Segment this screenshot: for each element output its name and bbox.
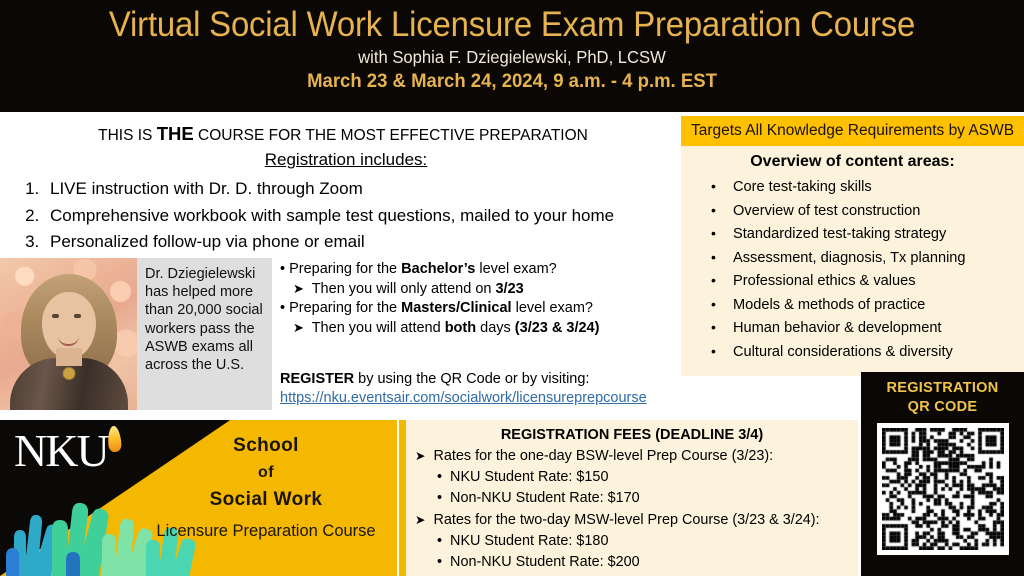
header-banner: Virtual Social Work Licensure Exam Prepa… bbox=[0, 0, 1024, 112]
list-item: Human behavior & development bbox=[711, 317, 1024, 341]
bachelor-question-bold: Bachelor’s bbox=[401, 261, 475, 277]
list-item: Comprehensive workbook with sample test … bbox=[44, 203, 676, 230]
bachelor-answer: ➤ Then you will only attend on 3/23 bbox=[280, 280, 680, 300]
register-instructions: REGISTER by using the QR Code or by visi… bbox=[280, 370, 647, 408]
qr-title-line2: QR CODE bbox=[861, 398, 1024, 417]
list-item: Cultural considerations & diversity bbox=[711, 341, 1024, 365]
register-label: REGISTER bbox=[280, 371, 354, 387]
qr-code-panel: REGISTRATION QR CODE bbox=[861, 372, 1024, 576]
list-item: Standardized test-taking strategy bbox=[711, 223, 1024, 247]
fee-group-heading: ➤ Rates for the one-day BSW-level Prep C… bbox=[406, 445, 858, 467]
event-dates: March 23 & March 24, 2024, 9 a.m. - 4 p.… bbox=[26, 68, 999, 94]
registration-includes-heading: Registration includes: bbox=[0, 146, 676, 172]
registration-fees-panel: REGISTRATION FEES (DEADLINE 3/4) ➤ Rates… bbox=[399, 420, 858, 576]
fee-group-heading-text: Rates for the one-day BSW-level Prep Cou… bbox=[433, 448, 773, 464]
fee-row: • NKU Student Rate: $150 bbox=[406, 467, 858, 488]
masters-answer-mid: days bbox=[476, 320, 515, 336]
registration-url-link[interactable]: https://nku.eventsair.com/socialwork/lic… bbox=[280, 390, 647, 406]
tagline: THIS IS THE COURSE FOR THE MOST EFFECTIV… bbox=[0, 112, 676, 146]
photo-necklace bbox=[62, 367, 75, 380]
qr-code-image[interactable] bbox=[877, 423, 1009, 555]
list-item: Overview of test construction bbox=[711, 200, 1024, 224]
arrow-bullet-icon: ➤ bbox=[415, 512, 425, 527]
bachelor-question: • Preparing for the Bachelor’s level exa… bbox=[280, 260, 680, 280]
list-item: Personalized follow-up via phone or emai… bbox=[44, 229, 676, 256]
arrow-bullet-icon: ➤ bbox=[293, 321, 304, 336]
fee-row: • Non-NKU Student Rate: $200 bbox=[406, 552, 858, 573]
fee-group-heading: ➤ Rates for the two-day MSW-level Prep C… bbox=[406, 509, 858, 531]
intro-section: THIS IS THE COURSE FOR THE MOST EFFECTIV… bbox=[0, 112, 676, 256]
nku-logo-block: NKU School of Social Work Licensure Prep… bbox=[0, 420, 397, 576]
masters-answer: ➤ Then you will attend both days (3/23 &… bbox=[280, 319, 680, 339]
photo-neck bbox=[56, 348, 82, 366]
registration-includes-list: LIVE instruction with Dr. D. through Zoo… bbox=[0, 176, 676, 256]
fee-row-text: NKU Student Rate: $180 bbox=[450, 533, 608, 549]
arrow-bullet-icon: ➤ bbox=[293, 282, 304, 297]
fee-row-text: NKU Student Rate: $150 bbox=[450, 469, 608, 485]
photo-eye-left bbox=[52, 314, 59, 318]
tagline-emphasis: THE bbox=[157, 123, 194, 144]
list-item: Professional ethics & values bbox=[711, 270, 1024, 294]
masters-answer-bold-dates: (3/23 & 3/24) bbox=[515, 320, 600, 336]
masters-question-bold: Masters/Clinical bbox=[401, 300, 511, 316]
presenter-name: with Sophia F. Dziegielewski, PhD, LCSW bbox=[26, 46, 999, 68]
fee-row-text: Non-NKU Student Rate: $200 bbox=[450, 554, 640, 570]
bio-caption: Dr. Dziegielewski has helped more than 2… bbox=[137, 258, 272, 410]
tagline-pre: THIS IS bbox=[98, 127, 157, 144]
masters-question-pre: Preparing for the bbox=[289, 300, 401, 316]
bachelor-question-post: level exam? bbox=[475, 261, 556, 277]
list-item: LIVE instruction with Dr. D. through Zoo… bbox=[44, 176, 676, 203]
arrow-bullet-icon: ➤ bbox=[415, 448, 425, 463]
photo-eye-right bbox=[74, 314, 81, 318]
aswb-banner: Targets All Knowledge Requirements by AS… bbox=[681, 116, 1024, 146]
fee-group-heading-text: Rates for the two-day MSW-level Prep Cou… bbox=[433, 512, 819, 528]
exam-level-guidance: • Preparing for the Bachelor’s level exa… bbox=[280, 260, 680, 338]
aswb-topic-list: Core test-taking skills Overview of test… bbox=[681, 176, 1024, 364]
aswb-content-panel: Targets All Knowledge Requirements by AS… bbox=[681, 116, 1024, 376]
school-line-3: Social Work bbox=[143, 486, 389, 513]
list-item: Assessment, diagnosis, Tx planning bbox=[711, 247, 1024, 271]
qr-title-line1: REGISTRATION bbox=[861, 379, 1024, 398]
school-name-text: School of Social Work Licensure Preparat… bbox=[143, 432, 389, 543]
register-text-line: REGISTER by using the QR Code or by visi… bbox=[280, 370, 647, 389]
list-item: Core test-taking skills bbox=[711, 176, 1024, 200]
bachelor-answer-bold: 3/23 bbox=[495, 281, 523, 297]
school-line-1: School bbox=[143, 432, 389, 459]
page-title: Virtual Social Work Licensure Exam Prepa… bbox=[31, 0, 994, 46]
bachelor-question-pre: Preparing for the bbox=[289, 261, 401, 277]
school-line-2: of bbox=[143, 459, 389, 486]
fees-title: REGISTRATION FEES (DEADLINE 3/4) bbox=[406, 420, 858, 445]
flame-icon bbox=[107, 426, 122, 453]
presenter-photo bbox=[0, 258, 137, 410]
masters-question-post: level exam? bbox=[512, 300, 593, 316]
bio-block: Dr. Dziegielewski has helped more than 2… bbox=[0, 258, 272, 410]
qr-panel-title: REGISTRATION QR CODE bbox=[861, 372, 1024, 417]
qr-canvas[interactable] bbox=[882, 428, 1004, 550]
registration-includes-label: Registration includes: bbox=[265, 150, 428, 169]
list-item: Models & methods of practice bbox=[711, 294, 1024, 318]
bachelor-answer-pre: Then you will only attend on bbox=[312, 281, 496, 297]
masters-answer-bold-both: both bbox=[445, 320, 476, 336]
fee-row-text: Non-NKU Student Rate: $170 bbox=[450, 490, 640, 506]
school-line-4: Licensure Preparation Course bbox=[143, 519, 389, 543]
masters-answer-pre: Then you will attend bbox=[312, 320, 445, 336]
nku-wordmark: NKU bbox=[14, 428, 108, 474]
tagline-post: COURSE FOR THE MOST EFFECTIVE PREPARATIO… bbox=[194, 127, 588, 144]
masters-question: • Preparing for the Masters/Clinical lev… bbox=[280, 299, 680, 319]
fee-row: • Non-NKU Student Rate: $170 bbox=[406, 488, 858, 509]
register-label-rest: by using the QR Code or by visiting: bbox=[354, 371, 589, 387]
aswb-subtitle: Overview of content areas: bbox=[681, 146, 1024, 176]
fee-row: • NKU Student Rate: $180 bbox=[406, 531, 858, 552]
